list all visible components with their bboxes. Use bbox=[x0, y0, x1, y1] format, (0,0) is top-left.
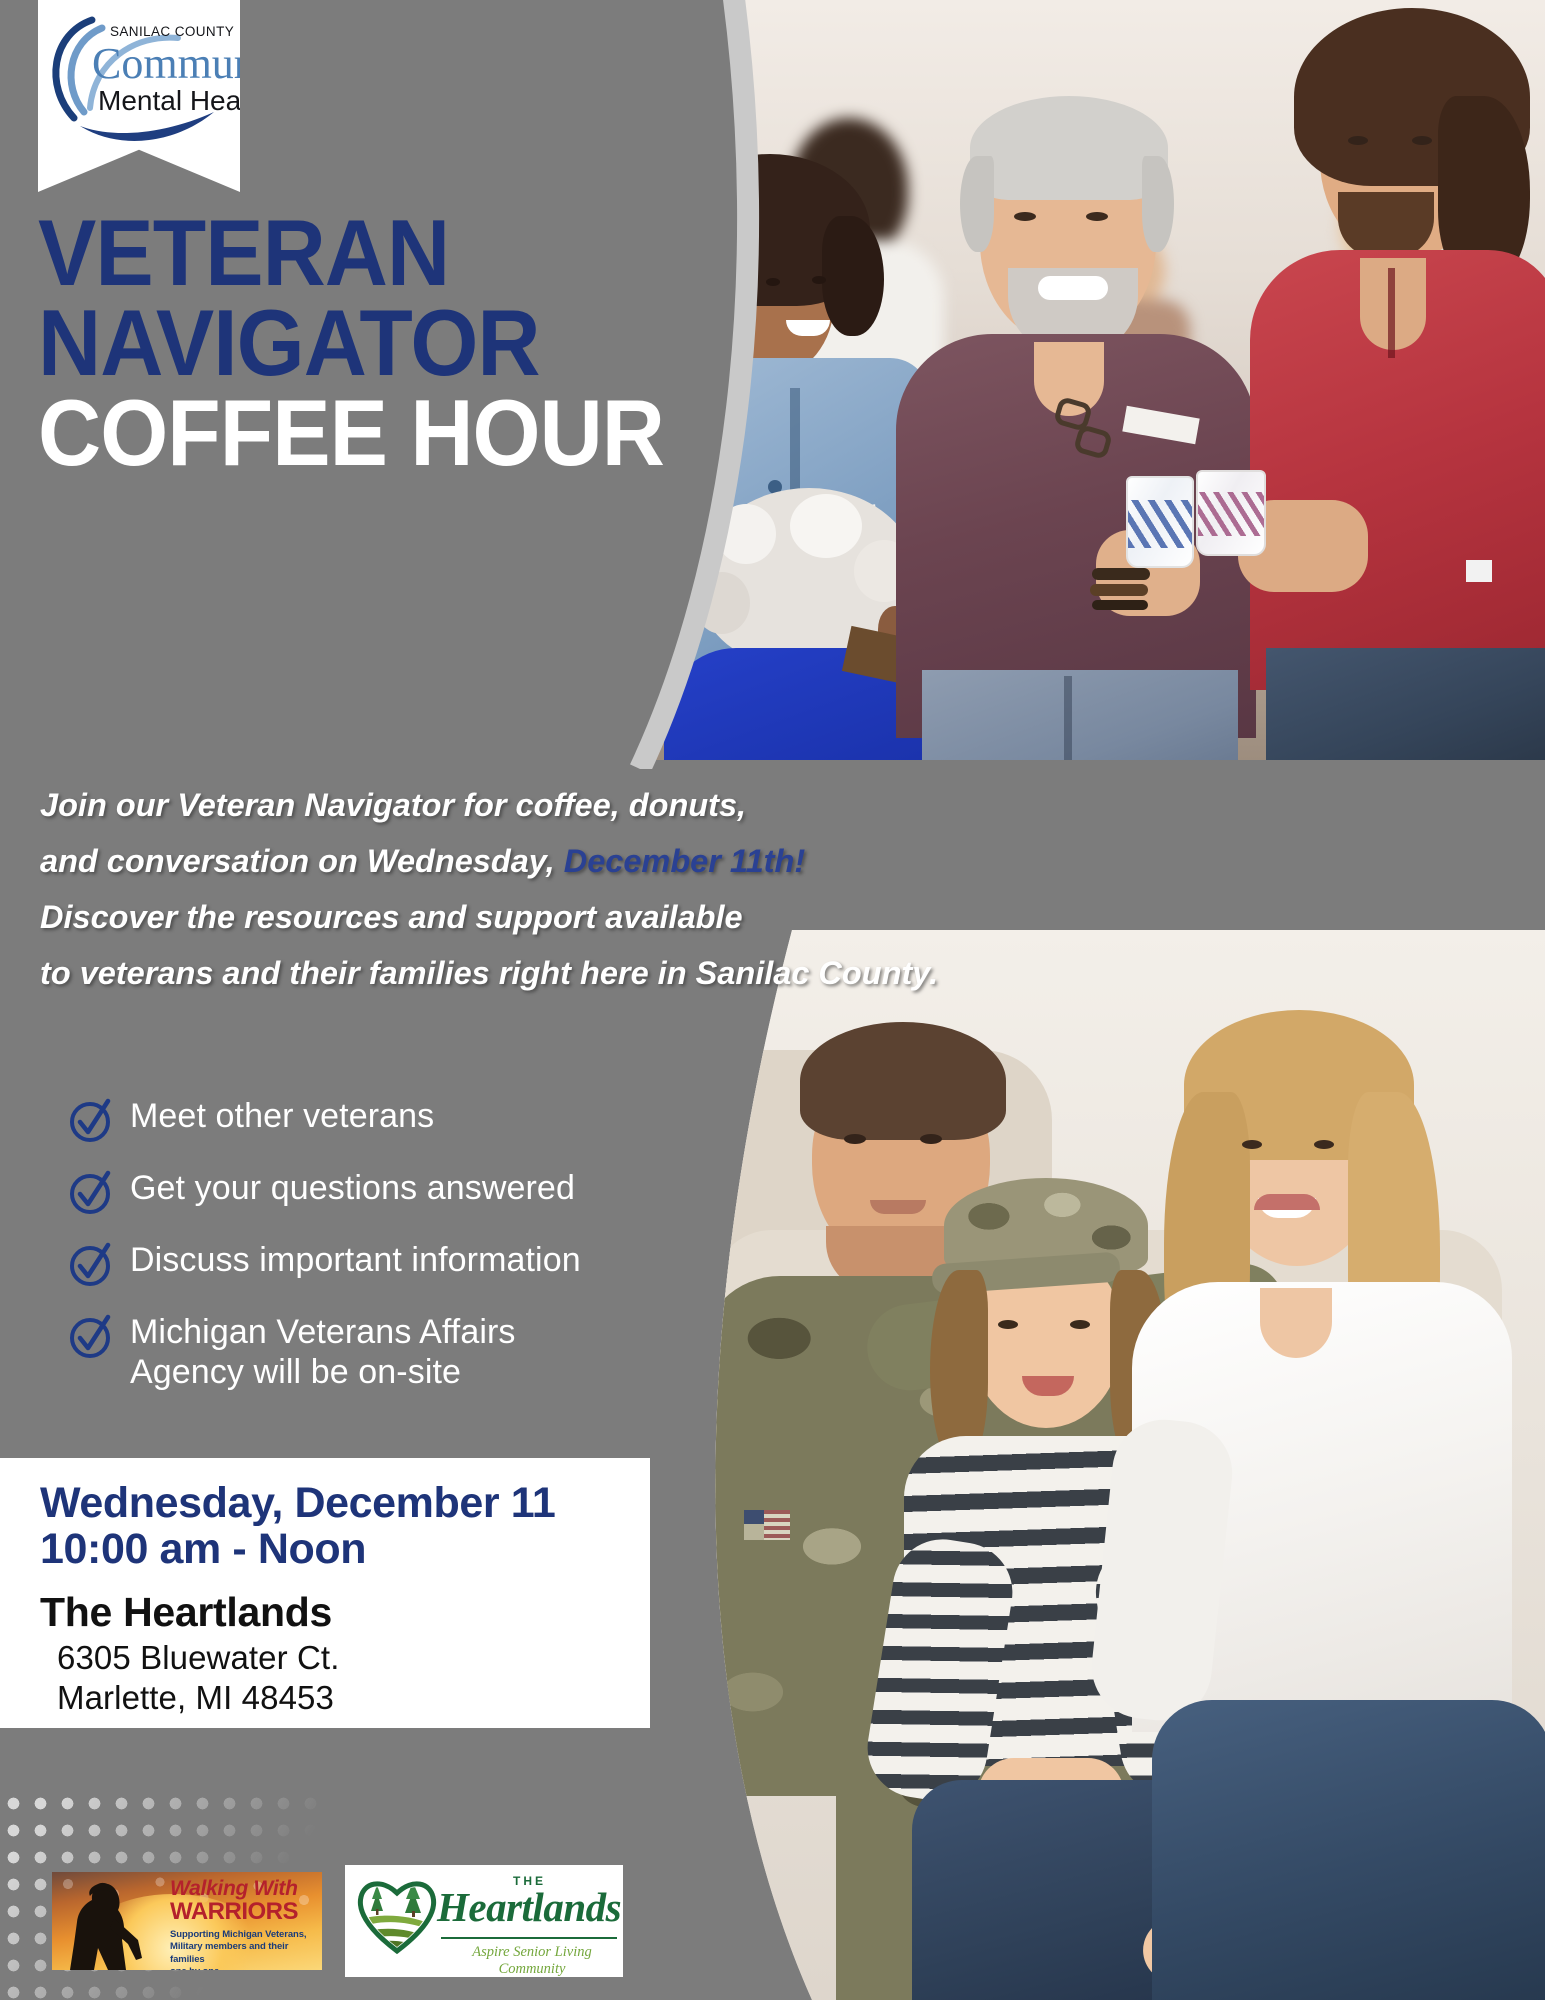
organization-logo-ribbon: SANILAC COUNTY Community Mental Health S… bbox=[38, 0, 240, 192]
sponsor-logo-the-heartlands: THE Heartlands Aspire Senior Living Comm… bbox=[345, 1865, 623, 1977]
sponsor-ww-tagline-1: Supporting Michigan Veterans, bbox=[170, 1929, 320, 1941]
soldier-silhouette-icon bbox=[64, 1878, 160, 1970]
community-mental-health-logo-icon: SANILAC COUNTY Community Mental Health bbox=[38, 0, 240, 160]
sponsor-ww-text: Walking With WARRIORS Supporting Michiga… bbox=[170, 1878, 320, 1970]
photo-coffee-gathering bbox=[640, 0, 1545, 760]
event-details-box: Wednesday, December 11 10:00 am - Noon T… bbox=[0, 1458, 650, 1728]
list-item-label: Michigan Veterans Affairs Agency will be… bbox=[130, 1311, 516, 1393]
list-item-label: Discuss important information bbox=[130, 1239, 581, 1281]
sponsor-ww-title-script: Walking With bbox=[170, 1878, 320, 1899]
sponsor-ww-tagline-3: one by one. bbox=[170, 1966, 320, 1970]
sponsor-ww-tagline-2: Military members and their families bbox=[170, 1941, 320, 1965]
svg-text:Community: Community bbox=[92, 39, 240, 88]
sponsor-hl-tagline: Aspire Senior Living Community bbox=[441, 1944, 623, 1978]
headline-line-1: VETERAN bbox=[38, 208, 689, 298]
lede-line-4: to veterans and their families right her… bbox=[40, 946, 1030, 1002]
list-item: Meet other veterans bbox=[68, 1095, 688, 1143]
list-item: Get your questions answered bbox=[68, 1167, 688, 1215]
address-line-1: 6305 Bluewater Ct. bbox=[57, 1638, 650, 1678]
intro-paragraph: Join our Veteran Navigator for coffee, d… bbox=[40, 778, 1030, 1002]
check-circle-icon bbox=[68, 1097, 114, 1143]
sponsor-hl-divider bbox=[441, 1937, 617, 1939]
list-item: Michigan Veterans Affairs Agency will be… bbox=[68, 1311, 688, 1393]
headline-line-2: NAVIGATOR bbox=[38, 298, 689, 388]
sponsor-hl-name: Heartlands bbox=[437, 1883, 621, 1931]
event-date: Wednesday, December 11 bbox=[40, 1480, 650, 1526]
lede-line-2a: and conversation on Wednesday, bbox=[40, 843, 555, 879]
page-title: VETERAN NAVIGATOR COFFEE HOUR bbox=[38, 208, 738, 479]
sponsor-ww-title-bold: WARRIORS bbox=[170, 1899, 320, 1924]
check-circle-icon bbox=[68, 1241, 114, 1287]
venue-name: The Heartlands bbox=[40, 1587, 650, 1638]
headline-line-3: COFFEE HOUR bbox=[38, 388, 689, 478]
heart-farmland-icon bbox=[355, 1873, 439, 1955]
list-item-label: Meet other veterans bbox=[130, 1095, 434, 1137]
svg-text:Mental Health: Mental Health bbox=[98, 85, 240, 116]
lede-line-1: Join our Veteran Navigator for coffee, d… bbox=[40, 778, 1030, 834]
list-item: Discuss important information bbox=[68, 1239, 688, 1287]
lede-line-2: and conversation on Wednesday, December … bbox=[40, 834, 1030, 890]
lede-line-3: Discover the resources and support avail… bbox=[40, 890, 1030, 946]
list-item-label: Get your questions answered bbox=[130, 1167, 575, 1209]
check-circle-icon bbox=[68, 1169, 114, 1215]
address-line-2: Marlette, MI 48453 bbox=[57, 1678, 650, 1718]
check-circle-icon bbox=[68, 1313, 114, 1359]
benefits-checklist: Meet other veterans Get your questions a… bbox=[68, 1095, 688, 1417]
svg-text:SANILAC COUNTY: SANILAC COUNTY bbox=[110, 24, 234, 39]
flyer-poster: SANILAC COUNTY Community Mental Health S… bbox=[0, 0, 1545, 2000]
event-time: 10:00 am - Noon bbox=[40, 1526, 650, 1572]
event-date-highlight: December 11th! bbox=[564, 843, 805, 879]
sponsor-logo-walking-with-warriors: Walking With WARRIORS Supporting Michiga… bbox=[52, 1872, 322, 1970]
photo-military-family bbox=[672, 930, 1545, 2000]
